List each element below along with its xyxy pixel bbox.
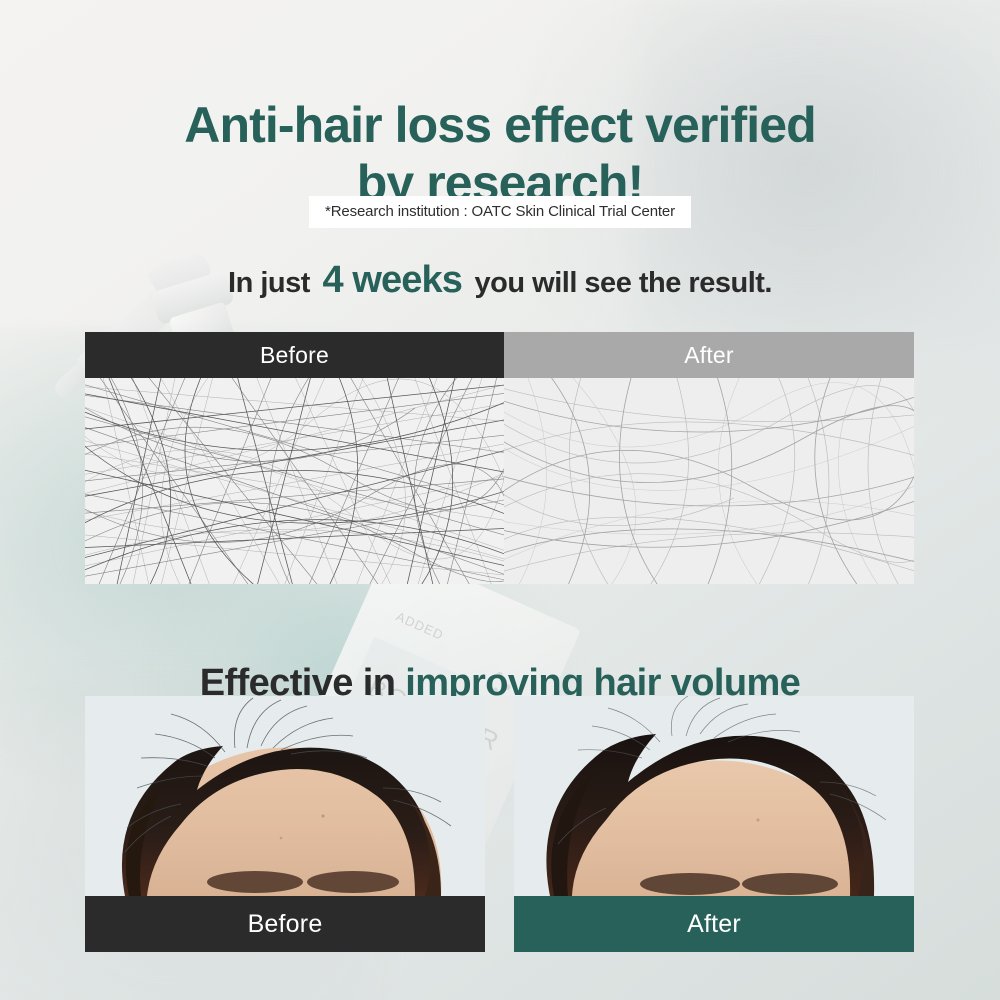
page-title: Anti-hair loss effect verified by resear… xyxy=(0,96,1000,212)
shed-comparison-labels: Before After xyxy=(85,332,914,378)
volume-after-label: After xyxy=(514,896,914,952)
timeframe-highlight: 4 weeks xyxy=(317,259,466,301)
volume-before-label: Before xyxy=(85,896,485,952)
timeframe-suffix: you will see the result. xyxy=(475,267,772,299)
shed-hair-comparison: Before After xyxy=(85,332,914,584)
shed-before-photo xyxy=(85,378,504,584)
volume-after-photo xyxy=(514,696,914,896)
research-credit-wrapper: *Research institution : OATC Skin Clinic… xyxy=(0,196,1000,228)
poster-root: BOOSTER ION ADDED Anti-hair loss effect … xyxy=(0,0,1000,1000)
research-credit: *Research institution : OATC Skin Clinic… xyxy=(309,196,691,228)
hair-volume-comparison: Before xyxy=(85,696,914,952)
shed-comparison-images xyxy=(85,378,914,584)
shed-before-label: Before xyxy=(85,332,504,378)
shed-after-label: After xyxy=(504,332,914,378)
svg-text:ADDED: ADDED xyxy=(394,609,446,643)
headline-line-1: Anti-hair loss effect verified xyxy=(184,97,816,153)
volume-before-card: Before xyxy=(85,696,485,952)
timeframe-statement: In just 4 weeks you will see the result. xyxy=(0,259,1000,302)
shed-after-photo xyxy=(504,378,914,584)
volume-before-photo xyxy=(85,696,485,896)
timeframe-prefix: In just xyxy=(228,267,310,299)
volume-after-card: After xyxy=(514,696,914,952)
